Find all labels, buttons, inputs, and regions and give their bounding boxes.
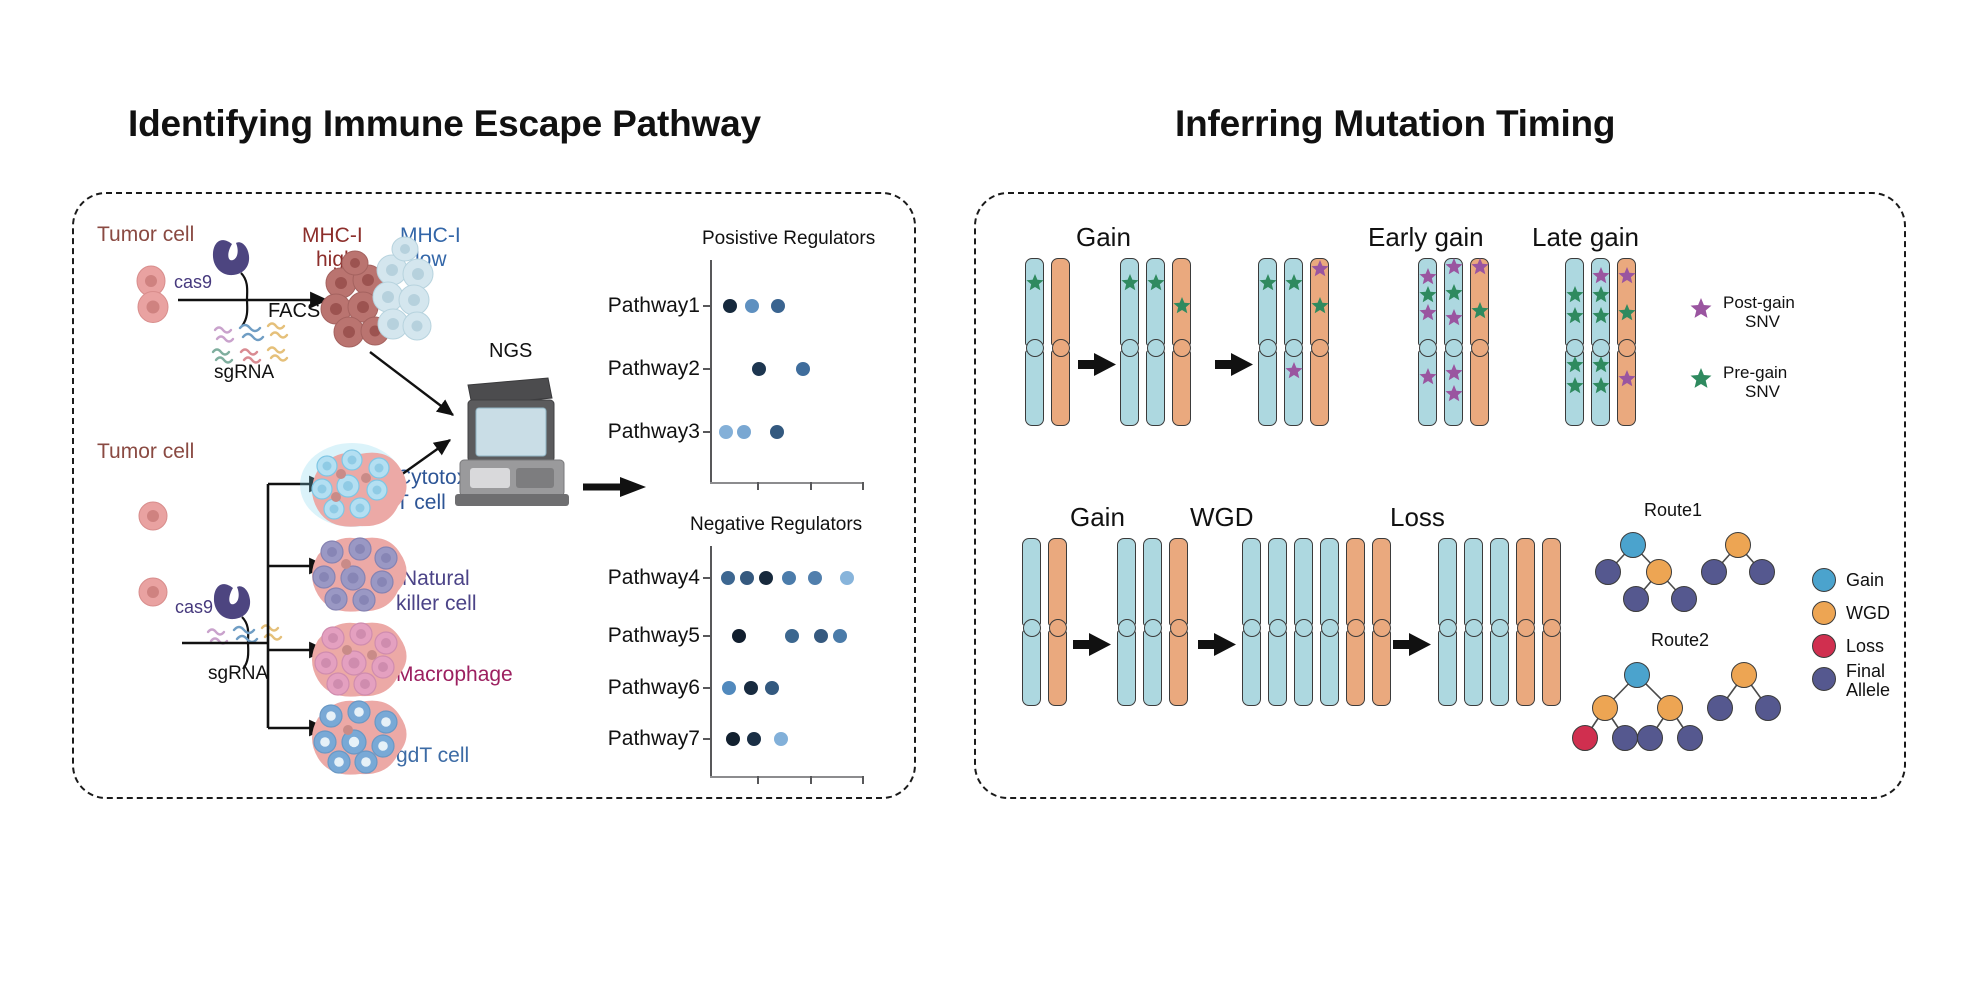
- chromatid-orange-q-arm: [1372, 630, 1391, 706]
- chromatid-blue-p-arm: [1294, 538, 1313, 626]
- pos-data-dot: [737, 425, 751, 439]
- route1-wgd-node: [1646, 559, 1672, 585]
- pre-gain-snv-star: [1419, 286, 1437, 304]
- tumor-cell-label-top: Tumor cell: [97, 223, 194, 247]
- legend-swatch-loss: [1812, 634, 1836, 658]
- neg-row-label: Pathway6: [600, 676, 700, 700]
- facs-label: FACS: [268, 300, 320, 322]
- pos-data-dot: [723, 299, 737, 313]
- chromatid-blue-p-arm: [1022, 538, 1041, 626]
- pre-gain-snv-legend-star: [1690, 368, 1712, 390]
- centromere: [1147, 339, 1165, 357]
- chromatid-blue-q-arm: [1268, 630, 1287, 706]
- chromatid-blue-q-arm: [1294, 630, 1313, 706]
- post-gain-snv-star: [1445, 364, 1463, 382]
- chromatid-orange-p-arm: [1372, 538, 1391, 626]
- pre-gain-snv-star: [1121, 274, 1139, 292]
- chromatid-blue-p-arm: [1284, 258, 1303, 346]
- nk-cell-label-line1: Natural: [402, 567, 470, 592]
- route2b-final-node: [1707, 695, 1733, 721]
- neg-data-dot: [732, 629, 746, 643]
- route1-final-node: [1623, 586, 1649, 612]
- centromere: [1347, 619, 1365, 637]
- post-gain-snv-legend-line2: SNV: [1745, 312, 1780, 332]
- mhc-low-label-line1: MHC-I: [400, 224, 461, 248]
- chromatid-orange-p-arm: [1346, 538, 1365, 626]
- cytotoxic-t-cell-label-line1: Cytotoxic: [396, 466, 482, 491]
- centromere: [1445, 339, 1463, 357]
- chromatid-orange-q-arm: [1470, 350, 1489, 426]
- stage-label-late-gain: Late gain: [1532, 222, 1639, 253]
- neg-data-dot: [740, 571, 754, 585]
- post-gain-snv-star: [1618, 267, 1636, 285]
- post-gain-snv-star: [1445, 385, 1463, 403]
- pre-gain-snv-legend-line2: SNV: [1745, 382, 1780, 402]
- route2b-final-node: [1755, 695, 1781, 721]
- pos-x-tick: [862, 482, 864, 490]
- centromere: [1121, 339, 1139, 357]
- chromatid-blue-p-arm: [1438, 538, 1457, 626]
- pre-gain-snv-star: [1592, 377, 1610, 395]
- pos-data-dot: [719, 425, 733, 439]
- neg-data-dot: [744, 681, 758, 695]
- neg-x-tick: [757, 776, 759, 784]
- route2-final-node: [1677, 725, 1703, 751]
- chromatid-orange-q-arm: [1172, 350, 1191, 426]
- pre-gain-snv-star: [1445, 284, 1463, 302]
- chromatid-blue-q-arm: [1418, 350, 1437, 426]
- stage-label-wgd: WGD: [1190, 502, 1254, 533]
- mhc-low-label-line2: low: [415, 248, 447, 272]
- neg-row-label: Pathway4: [600, 566, 700, 590]
- pre-gain-snv-star: [1618, 304, 1636, 322]
- pos-x-axis: [710, 482, 864, 484]
- chromatid-blue-p-arm: [1242, 538, 1261, 626]
- pos-data-dot: [771, 299, 785, 313]
- chromatid-blue-p-arm: [1464, 538, 1483, 626]
- legend-label-gain: Gain: [1846, 570, 1884, 591]
- chromatid-orange-q-arm: [1516, 630, 1535, 706]
- pos-row-label: Pathway1: [600, 294, 700, 318]
- legend-label-wgd: WGD: [1846, 603, 1890, 624]
- legend-label-final-allele-line2: Allele: [1846, 680, 1890, 701]
- neg-data-dot: [721, 571, 735, 585]
- route2b-wgd-node: [1731, 662, 1757, 688]
- centromere: [1592, 339, 1610, 357]
- pos-y-axis: [710, 260, 712, 482]
- pre-gain-snv-star: [1026, 274, 1044, 292]
- centromere: [1566, 339, 1584, 357]
- centromere: [1243, 619, 1261, 637]
- chromatid-blue-p-arm: [1025, 258, 1044, 346]
- pos-y-tick: [703, 431, 711, 433]
- chromatid-blue-q-arm: [1464, 630, 1483, 706]
- sgrna-label-bottom: sgRNA: [208, 663, 268, 684]
- route2-wgd-node: [1657, 695, 1683, 721]
- centromere: [1439, 619, 1457, 637]
- chromatid-blue-q-arm: [1490, 630, 1509, 706]
- chromatid-orange-q-arm: [1051, 350, 1070, 426]
- chromatid-orange-p-arm: [1542, 538, 1561, 626]
- post-gain-snv-star: [1445, 258, 1463, 276]
- pre-gain-snv-star: [1173, 297, 1191, 315]
- route1-gain-node: [1620, 532, 1646, 558]
- neg-y-tick: [703, 577, 711, 579]
- centromere: [1144, 619, 1162, 637]
- neg-data-dot: [759, 571, 773, 585]
- chromatid-orange-p-arm: [1051, 258, 1070, 346]
- route2-final-node: [1637, 725, 1663, 751]
- neg-data-dot: [785, 629, 799, 643]
- chromatid-blue-p-arm: [1120, 258, 1139, 346]
- centromere: [1491, 619, 1509, 637]
- route2-final-node: [1612, 725, 1638, 751]
- neg-y-axis: [710, 546, 712, 776]
- pre-gain-snv-star: [1259, 274, 1277, 292]
- neg-row-label: Pathway7: [600, 727, 700, 751]
- post-gain-snv-star: [1618, 370, 1636, 388]
- chromatid-blue-q-arm: [1022, 630, 1041, 706]
- gdt-cell-label: gdT cell: [396, 744, 469, 768]
- stage-label-early-gain: Early gain: [1368, 222, 1484, 253]
- centromere: [1023, 619, 1041, 637]
- pos-x-tick: [810, 482, 812, 490]
- positive-regulators-title: Posistive Regulators: [702, 228, 875, 250]
- centromere: [1618, 339, 1636, 357]
- sgrna-label-top: sgRNA: [214, 362, 274, 383]
- centromere: [1471, 339, 1489, 357]
- neg-row-label: Pathway5: [600, 624, 700, 648]
- route2-gain-node: [1624, 662, 1650, 688]
- pre-gain-snv-legend-line1: Pre-gain: [1723, 363, 1787, 383]
- post-gain-snv-star: [1445, 309, 1463, 327]
- chromatid-orange-p-arm: [1169, 538, 1188, 626]
- pos-data-dot: [745, 299, 759, 313]
- tumor-cell-label-bottom: Tumor cell: [97, 440, 194, 464]
- neg-data-dot: [747, 732, 761, 746]
- neg-y-tick: [703, 635, 711, 637]
- legend-swatch-gain: [1812, 568, 1836, 592]
- pre-gain-snv-star: [1566, 286, 1584, 304]
- chromatid-blue-q-arm: [1320, 630, 1339, 706]
- post-gain-snv-star: [1592, 267, 1610, 285]
- neg-y-tick: [703, 738, 711, 740]
- pos-x-tick: [757, 482, 759, 490]
- centromere: [1295, 619, 1313, 637]
- pos-row-label: Pathway3: [600, 420, 700, 444]
- chromatid-blue-q-arm: [1438, 630, 1457, 706]
- chromatid-blue-p-arm: [1268, 538, 1287, 626]
- chromatid-blue-p-arm: [1143, 538, 1162, 626]
- pre-gain-snv-star: [1566, 307, 1584, 325]
- pre-gain-snv-star: [1566, 356, 1584, 374]
- chromatid-orange-q-arm: [1346, 630, 1365, 706]
- route1-final-node: [1595, 559, 1621, 585]
- post-gain-snv-star: [1419, 268, 1437, 286]
- neg-data-dot: [833, 629, 847, 643]
- centromere: [1259, 339, 1277, 357]
- pre-gain-snv-star: [1311, 297, 1329, 315]
- post-gain-snv-star: [1471, 258, 1489, 276]
- chromatid-blue-p-arm: [1258, 258, 1277, 346]
- centromere: [1285, 339, 1303, 357]
- route2-loss-node: [1572, 725, 1598, 751]
- pre-gain-snv-star: [1592, 356, 1610, 374]
- chromatid-blue-p-arm: [1320, 538, 1339, 626]
- pos-y-tick: [703, 305, 711, 307]
- neg-x-axis: [710, 776, 864, 778]
- legend-swatch-final-allele: [1812, 667, 1836, 691]
- chromatid-orange-q-arm: [1542, 630, 1561, 706]
- negative-regulators-title: Negative Regulators: [690, 514, 862, 536]
- legend-label-final-allele-line1: Final: [1846, 661, 1885, 682]
- chromatid-blue-q-arm: [1117, 630, 1136, 706]
- cas9-label-top: cas9: [174, 272, 212, 292]
- right-panel-title: Inferring Mutation Timing: [1175, 103, 1615, 145]
- centromere: [1049, 619, 1067, 637]
- neg-data-dot: [840, 571, 854, 585]
- stage-label-gain-row2: Gain: [1070, 502, 1125, 533]
- pos-data-dot: [752, 362, 766, 376]
- neg-y-tick: [703, 687, 711, 689]
- route1b-final-node: [1701, 559, 1727, 585]
- centromere: [1321, 619, 1339, 637]
- legend-label-loss: Loss: [1846, 636, 1884, 657]
- post-gain-snv-legend-star: [1690, 298, 1712, 320]
- centromere: [1170, 619, 1188, 637]
- neg-data-dot: [726, 732, 740, 746]
- route1b-wgd-node: [1725, 532, 1751, 558]
- chromatid-blue-p-arm: [1146, 258, 1165, 346]
- pos-data-dot: [796, 362, 810, 376]
- neg-data-dot: [722, 681, 736, 695]
- centromere: [1052, 339, 1070, 357]
- chromatid-blue-q-arm: [1146, 350, 1165, 426]
- legend-swatch-wgd: [1812, 601, 1836, 625]
- pre-gain-snv-star: [1285, 274, 1303, 292]
- pre-gain-snv-star: [1147, 274, 1165, 292]
- pre-gain-snv-star: [1592, 286, 1610, 304]
- neg-x-tick: [862, 776, 864, 784]
- chromatid-orange-q-arm: [1169, 630, 1188, 706]
- mhc-high-label-line1: MHC-I: [302, 224, 363, 248]
- pos-y-tick: [703, 368, 711, 370]
- neg-data-dot: [814, 629, 828, 643]
- centromere: [1118, 619, 1136, 637]
- neg-data-dot: [808, 571, 822, 585]
- pre-gain-snv-star: [1566, 377, 1584, 395]
- ngs-label: NGS: [489, 340, 532, 362]
- route1b-final-node: [1749, 559, 1775, 585]
- chromatid-blue-q-arm: [1025, 350, 1044, 426]
- left-panel-title: Identifying Immune Escape Pathway: [128, 103, 761, 145]
- chromatid-blue-q-arm: [1242, 630, 1261, 706]
- chromatid-orange-q-arm: [1310, 350, 1329, 426]
- pre-gain-snv-star: [1471, 302, 1489, 320]
- chromatid-orange-p-arm: [1048, 538, 1067, 626]
- centromere: [1419, 339, 1437, 357]
- post-gain-snv-legend-line1: Post-gain: [1723, 293, 1795, 313]
- post-gain-snv-star: [1419, 304, 1437, 322]
- route1-final-node: [1671, 586, 1697, 612]
- chromatid-blue-p-arm: [1117, 538, 1136, 626]
- chromatid-orange-q-arm: [1048, 630, 1067, 706]
- stage-label-loss: Loss: [1390, 502, 1445, 533]
- post-gain-snv-star: [1419, 368, 1437, 386]
- chromatid-orange-q-arm: [1617, 350, 1636, 426]
- mhc-high-label-line2: high: [316, 248, 356, 272]
- chromatid-orange-p-arm: [1516, 538, 1535, 626]
- chromatid-blue-q-arm: [1258, 350, 1277, 426]
- nk-cell-label-line2: killer cell: [396, 592, 477, 617]
- neg-x-tick: [810, 776, 812, 784]
- chromatid-blue-p-arm: [1490, 538, 1509, 626]
- pos-row-label: Pathway2: [600, 357, 700, 381]
- cytotoxic-t-cell-label-line2: T cell: [396, 491, 446, 516]
- centromere: [1173, 339, 1191, 357]
- neg-data-dot: [782, 571, 796, 585]
- route1-label: Route1: [1644, 500, 1702, 521]
- post-gain-snv-star: [1311, 260, 1329, 278]
- post-gain-snv-star: [1285, 362, 1303, 380]
- centromere: [1373, 619, 1391, 637]
- centromere: [1517, 619, 1535, 637]
- chromatid-blue-q-arm: [1143, 630, 1162, 706]
- route2-wgd-node: [1592, 695, 1618, 721]
- centromere: [1311, 339, 1329, 357]
- pre-gain-snv-star: [1592, 307, 1610, 325]
- centromere: [1465, 619, 1483, 637]
- macrophage-label: Macrophage: [396, 663, 513, 687]
- stage-label-gain-row1: Gain: [1076, 222, 1131, 253]
- chromatid-blue-q-arm: [1120, 350, 1139, 426]
- centromere: [1269, 619, 1287, 637]
- centromere: [1026, 339, 1044, 357]
- route2-label: Route2: [1651, 630, 1709, 651]
- cas9-label-bottom: cas9: [175, 597, 213, 617]
- centromere: [1543, 619, 1561, 637]
- neg-data-dot: [765, 681, 779, 695]
- pos-data-dot: [770, 425, 784, 439]
- neg-data-dot: [774, 732, 788, 746]
